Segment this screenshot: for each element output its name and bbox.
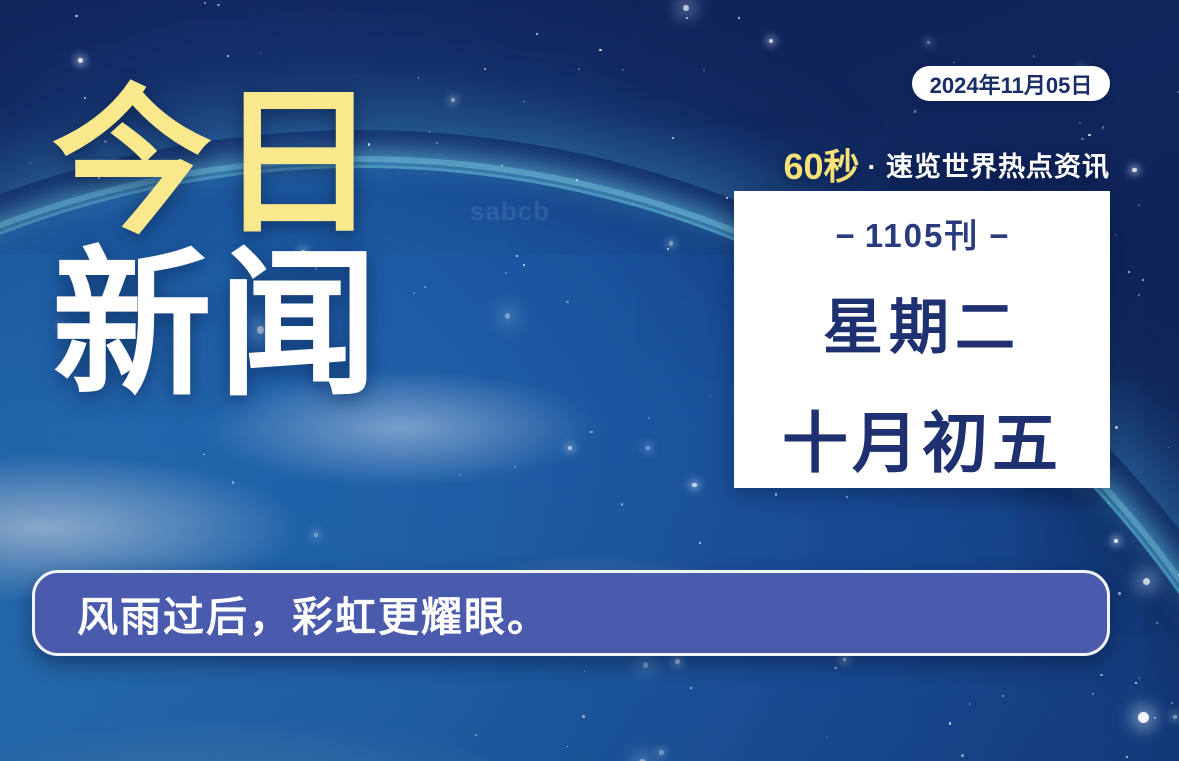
brand-title-line2: 新闻 — [52, 250, 384, 400]
weekday-label: 星期二 — [823, 279, 1021, 366]
brand-title-line1: 今日 — [52, 88, 384, 238]
quote-text: 风雨过后，彩虹更耀眼。 — [77, 583, 550, 643]
issue-number-row: −1105刊− — [825, 209, 1018, 257]
date-badge: 2024年11月05日 — [912, 66, 1110, 101]
lunar-date-label: 十月初五 — [782, 390, 1062, 486]
issue-card: −1105刊− 星期二 十月初五 — [734, 191, 1110, 488]
dash-left-icon: − — [825, 217, 864, 254]
brand-title: 今日 新闻 — [52, 88, 384, 401]
tagline: 60秒 · 速览世界热点资讯 — [734, 142, 1110, 186]
dash-right-icon: − — [979, 217, 1018, 254]
news-poster: 今日 新闻 sabcb 2024年11月05日 60秒 · 速览世界热点资讯 −… — [0, 0, 1179, 761]
issue-number: 1105刊 — [865, 217, 980, 254]
tagline-seconds: 60秒 — [783, 138, 859, 190]
tagline-description: · 速览世界热点资讯 — [868, 145, 1111, 184]
quote-bar: 风雨过后，彩虹更耀眼。 — [32, 570, 1110, 656]
